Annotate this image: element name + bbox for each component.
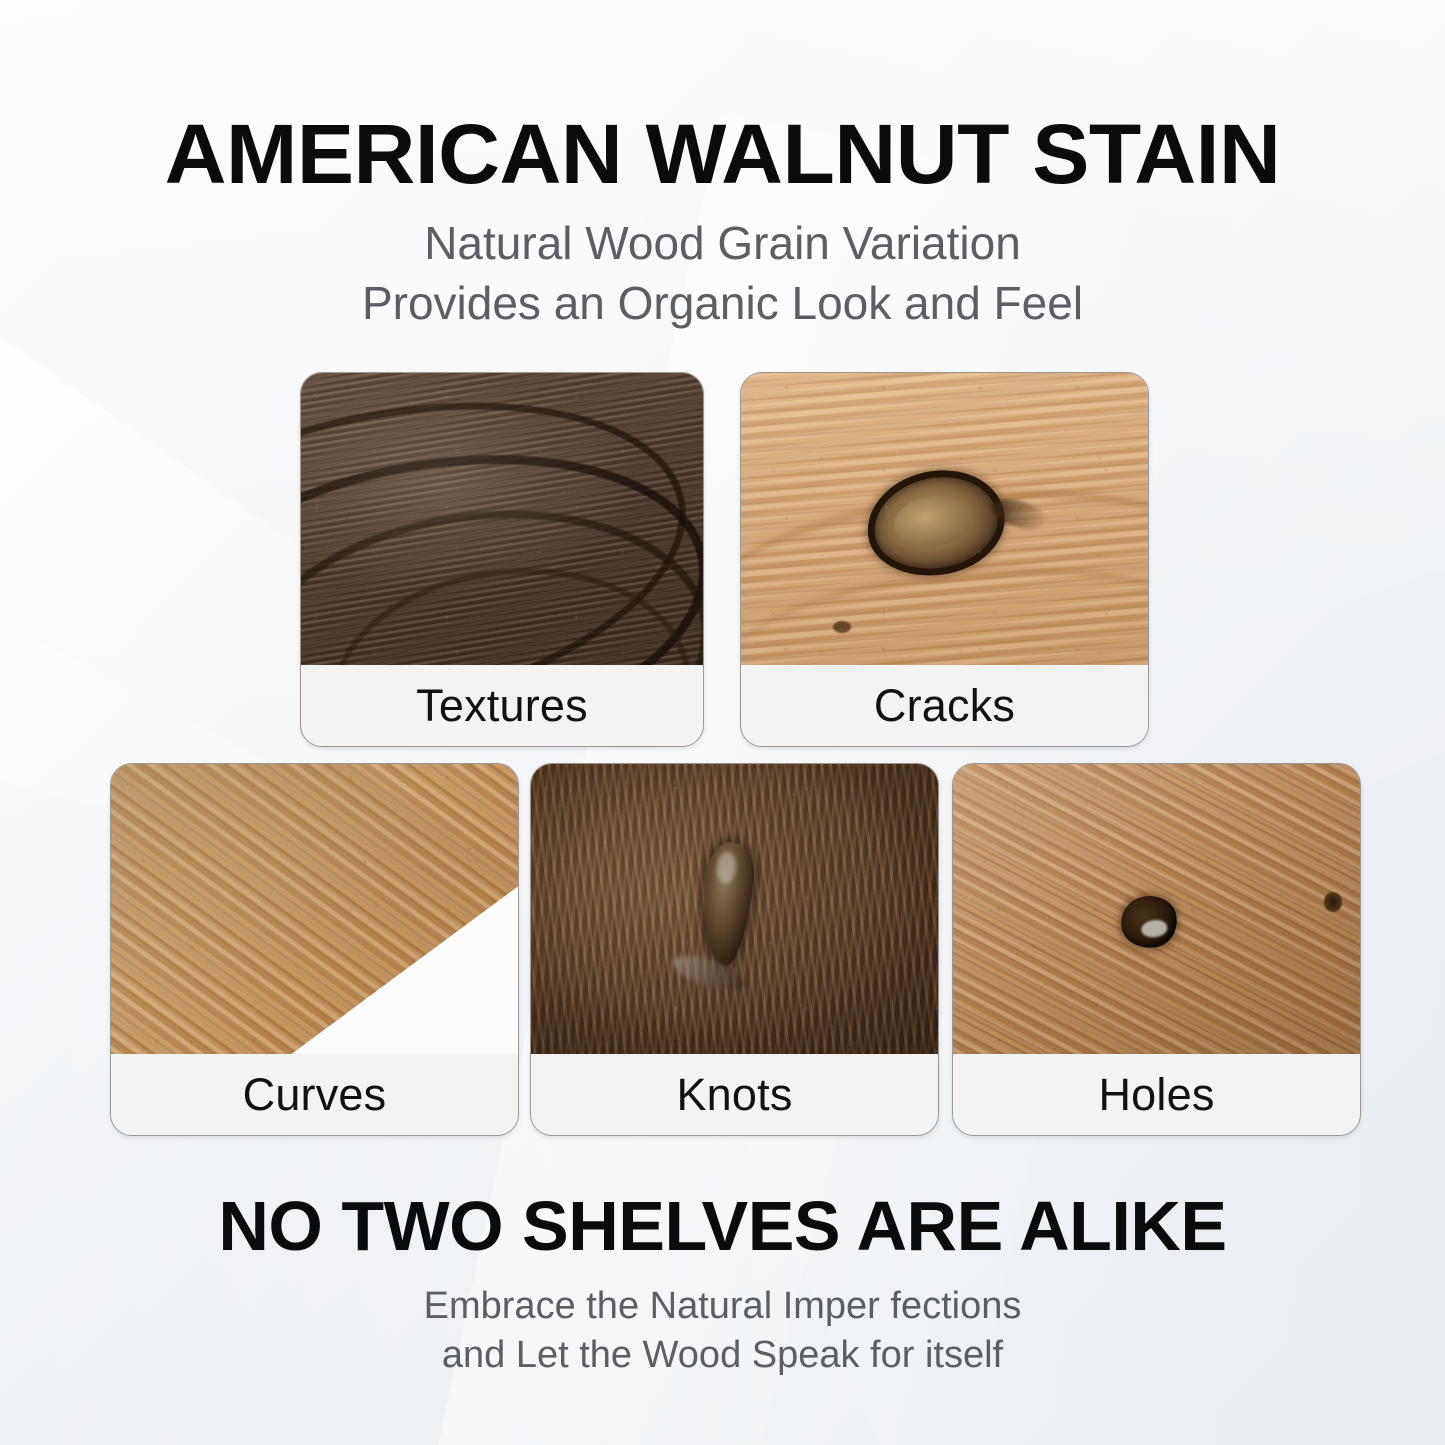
feature-card-knots[interactable]: Knots <box>530 763 939 1136</box>
card-label-curves: Curves <box>111 1054 518 1135</box>
card-label-knots: Knots <box>531 1054 938 1135</box>
knots-photo <box>531 764 938 1054</box>
header-subtitle-line-2: Provides an Organic Look and Feel <box>0 274 1445 334</box>
grain-speckle <box>953 764 1360 1054</box>
card-label-cracks: Cracks <box>741 665 1148 746</box>
grain-speckle <box>741 373 1148 665</box>
card-label-textures: Textures <box>301 665 703 746</box>
page-title: AMERICAN WALNUT STAIN <box>0 106 1445 203</box>
grain-speckle <box>301 373 703 665</box>
curves-photo <box>111 764 518 1054</box>
feature-card-curves[interactable]: Curves <box>110 763 519 1136</box>
content-layer: AMERICAN WALNUT STAIN Natural Wood Grain… <box>0 0 1445 1445</box>
feature-card-textures[interactable]: Textures <box>300 372 704 747</box>
header-subtitle-line-1: Natural Wood Grain Variation <box>0 214 1445 274</box>
infographic-page: AMERICAN WALNUT STAIN Natural Wood Grain… <box>0 0 1445 1445</box>
cracks-photo <box>741 373 1148 665</box>
footer-title: NO TWO SHELVES ARE ALIKE <box>0 1186 1445 1266</box>
feature-card-holes[interactable]: Holes <box>952 763 1361 1136</box>
footer-subtitle: Embrace the Natural Imper fections and L… <box>0 1282 1445 1381</box>
card-label-holes: Holes <box>953 1054 1360 1135</box>
vignette-overlay <box>531 764 938 1054</box>
feature-card-cracks[interactable]: Cracks <box>740 372 1149 747</box>
footer-subtitle-line-2: and Let the Wood Speak for itself <box>0 1331 1445 1380</box>
header-subtitle: Natural Wood Grain Variation Provides an… <box>0 214 1445 334</box>
footer-subtitle-line-1: Embrace the Natural Imper fections <box>0 1282 1445 1331</box>
white-corner-cutout <box>278 879 518 1054</box>
textures-photo <box>301 373 703 665</box>
holes-photo <box>953 764 1360 1054</box>
